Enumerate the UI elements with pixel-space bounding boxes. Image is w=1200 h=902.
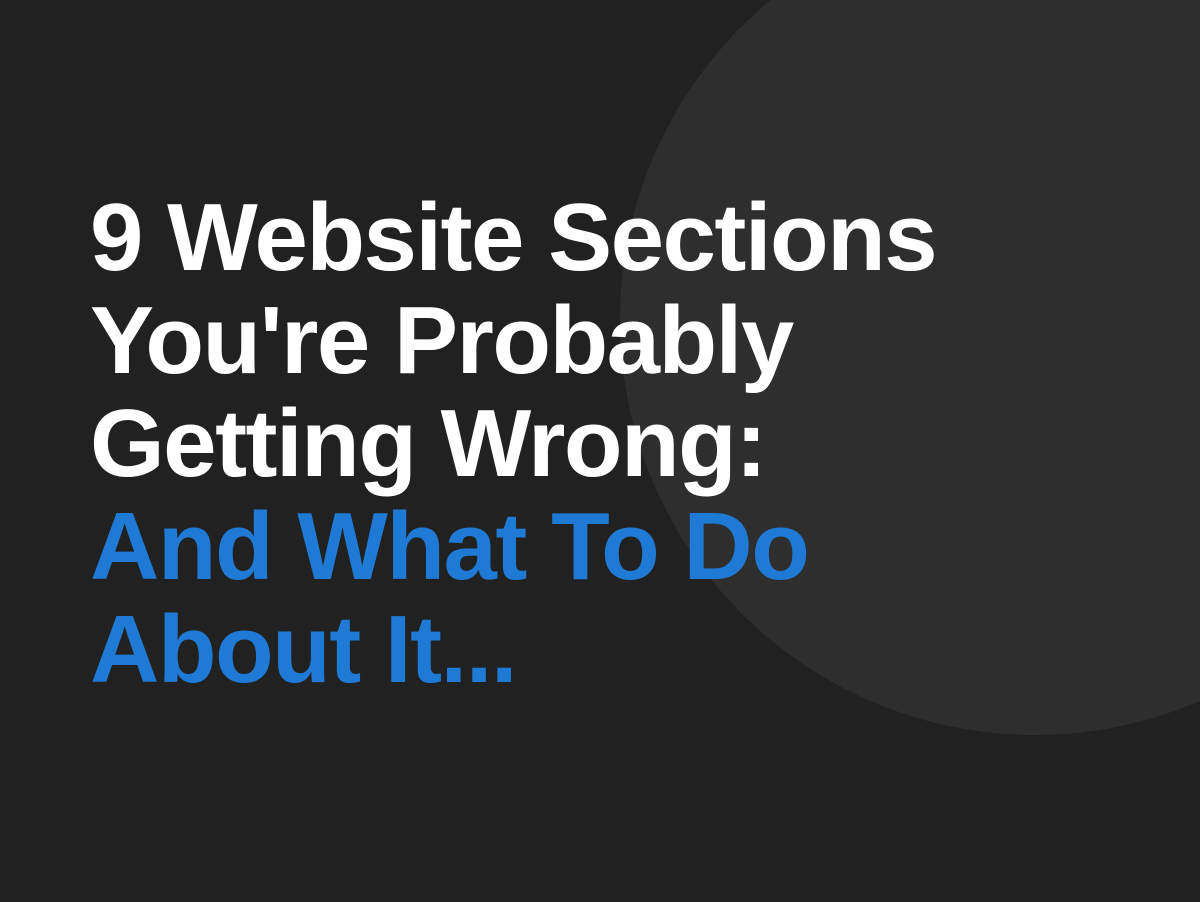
page-title: 9 Website Sections You're Probably Getti… — [90, 186, 1090, 701]
headline-line-4: And What To Do — [90, 495, 1090, 598]
headline-line-3: Getting Wrong: — [90, 392, 1090, 495]
headline-line-2: You're Probably — [90, 289, 1090, 392]
headline-line-1: 9 Website Sections — [90, 186, 1090, 289]
headline-line-5: About It... — [90, 598, 1090, 701]
title-slide: 9 Website Sections You're Probably Getti… — [0, 0, 1200, 902]
